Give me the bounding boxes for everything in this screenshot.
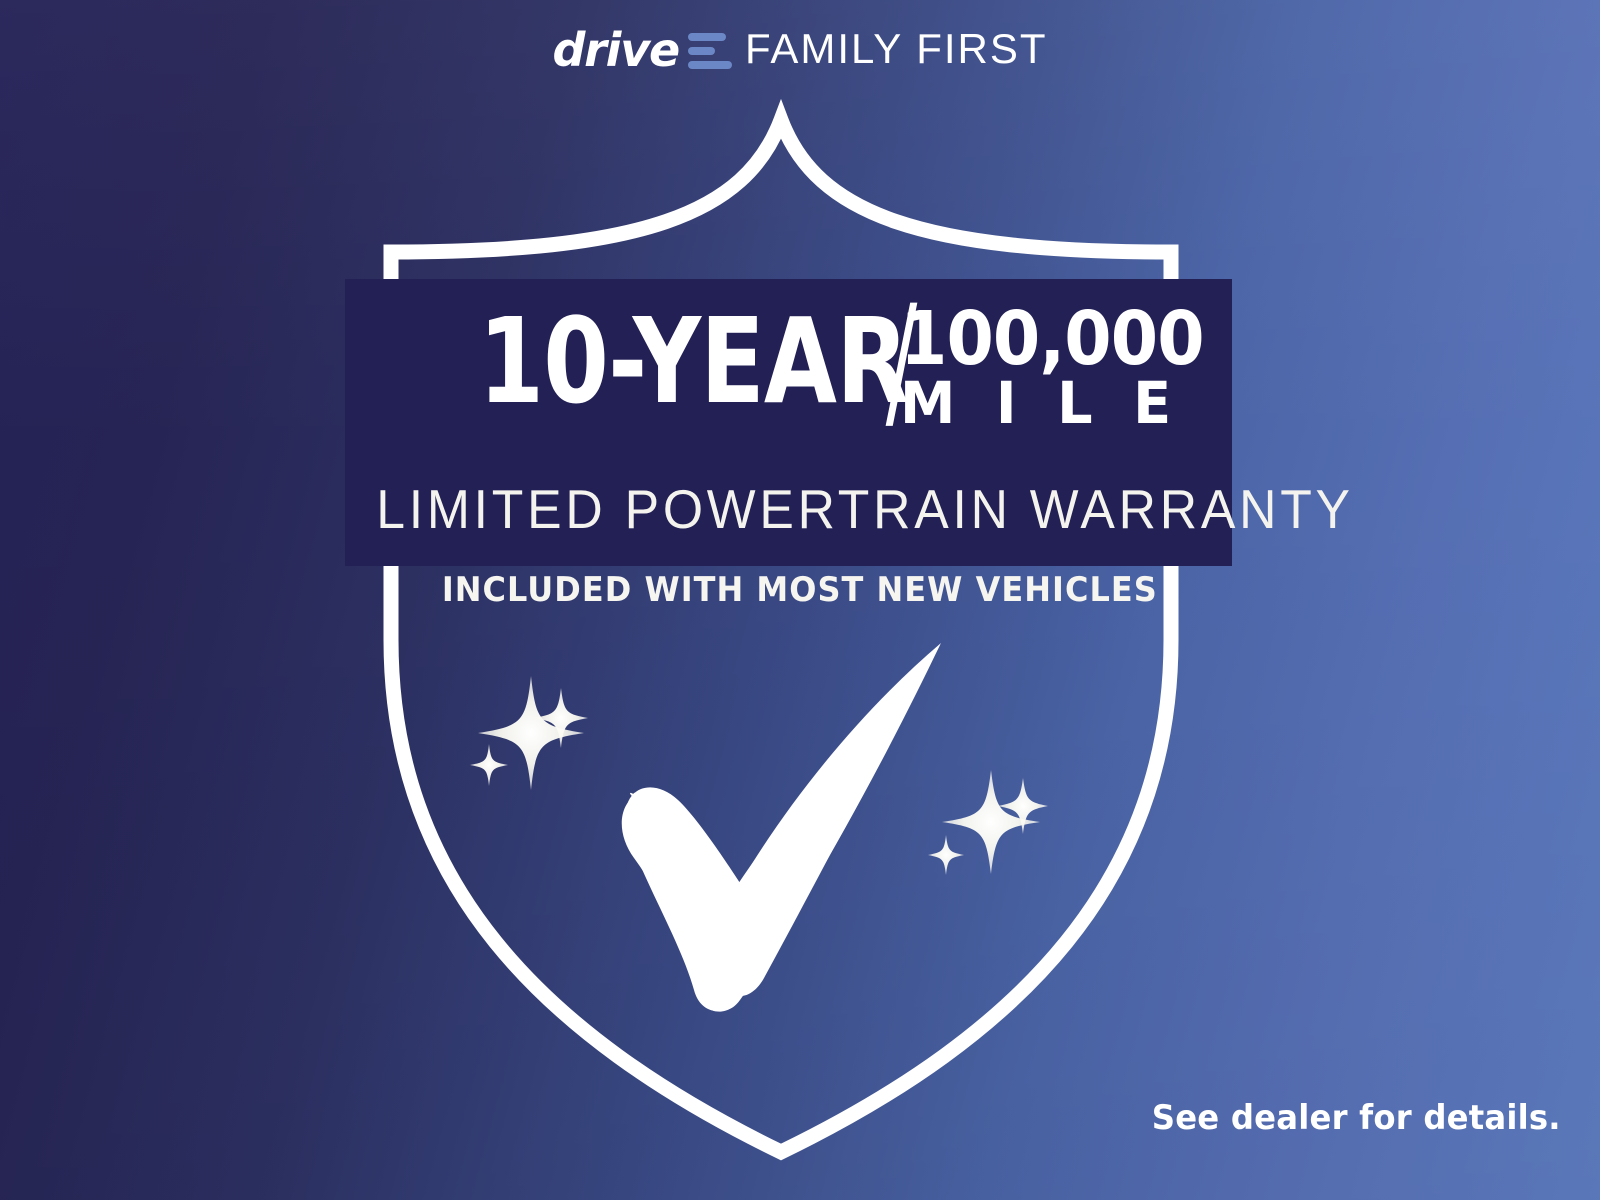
disclaimer-text: See dealer for details. [1152,1098,1561,1138]
included-note-text: INCLUDED WITH MOST NEW VEHICLES [442,570,1158,610]
included-note: INCLUDED WITH MOST NEW VEHICLES [0,570,1600,610]
promo-banner-canvas: drive FAMILY FIRST [0,0,1600,1200]
warranty-subtitle-text: LIMITED POWERTRAIN WARRANTY [376,477,1354,541]
brand-wordmark: drive [552,27,679,73]
warranty-miles: 100,000 [900,307,1204,372]
brand-tagline: FAMILY FIRST [745,28,1048,70]
warranty-headline: 10-YEAR / 100,000 M I L E [345,307,1232,477]
warranty-mile-word: M I L E [900,374,1182,432]
sparkle-cluster-icon-right [928,770,1048,875]
warranty-years: 10-YEAR [459,307,908,417]
disclaimer: See dealer for details. [1141,1098,1572,1138]
warranty-banner: 10-YEAR / 100,000 M I L E LIMITED POWERT… [345,279,1232,566]
shield-outline-icon [391,120,1171,1152]
three-bars-icon [688,33,732,69]
sparkle-cluster-icon-left [470,676,588,790]
warranty-subtitle: LIMITED POWERTRAIN WARRANTY [345,477,1232,541]
brand-header: drive FAMILY FIRST [0,26,1600,72]
warranty-mileage-block: 100,000 M I L E [900,307,1230,432]
